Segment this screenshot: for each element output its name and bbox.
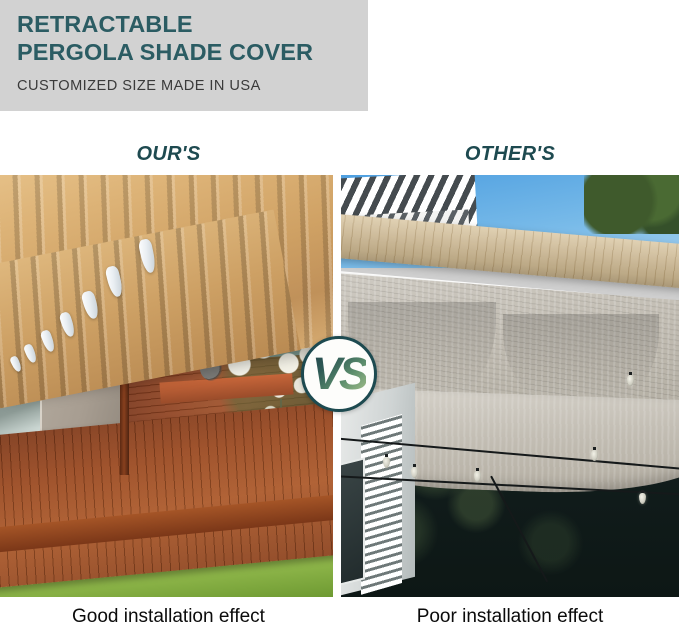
caption-good-installation: Good installation effect bbox=[0, 606, 337, 628]
vs-badge-label: VS bbox=[312, 351, 366, 396]
photo-panel-others bbox=[341, 175, 679, 597]
column-title-ours: OUR'S bbox=[0, 143, 337, 166]
header-banner: RETRACTABLE PERGOLA SHADE COVER CUSTOMIZ… bbox=[0, 0, 368, 111]
photo-poor-installation bbox=[341, 175, 679, 597]
photo-good-installation bbox=[0, 175, 333, 597]
column-title-others: OTHER'S bbox=[341, 143, 679, 166]
caption-poor-installation: Poor installation effect bbox=[341, 606, 679, 628]
header-subline: CUSTOMIZED SIZE MADE IN USA bbox=[17, 78, 368, 94]
headline-line-2: PERGOLA SHADE COVER bbox=[17, 39, 368, 66]
headline-line-1: RETRACTABLE bbox=[17, 11, 368, 38]
photo-panel-ours bbox=[0, 175, 333, 597]
background-tree bbox=[584, 175, 679, 234]
vs-badge: VS bbox=[301, 336, 377, 412]
